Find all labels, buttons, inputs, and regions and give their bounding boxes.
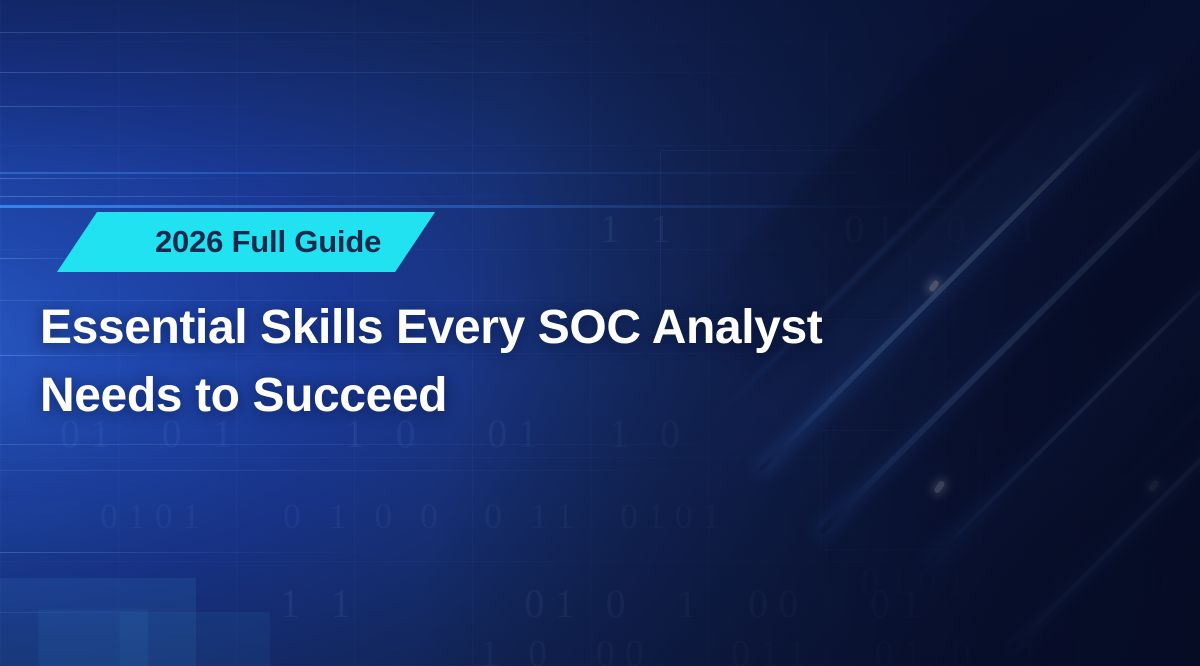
hero-banner: 1 1 01 0 1 00 0 01 0 1 1 0 01 1 0 1 1 01… bbox=[0, 0, 1200, 666]
guide-badge-label: 2026 Full Guide bbox=[155, 212, 381, 272]
page-title: Essential Skills Every SOC Analyst Needs… bbox=[40, 294, 920, 430]
headline-line-1: Essential Skills Every SOC Analyst bbox=[40, 294, 920, 362]
headline-line-2: Needs to Succeed bbox=[40, 362, 920, 430]
hero-content: 2026 Full Guide Essential Skills Every S… bbox=[40, 212, 920, 430]
guide-badge: 2026 Full Guide bbox=[57, 212, 435, 272]
